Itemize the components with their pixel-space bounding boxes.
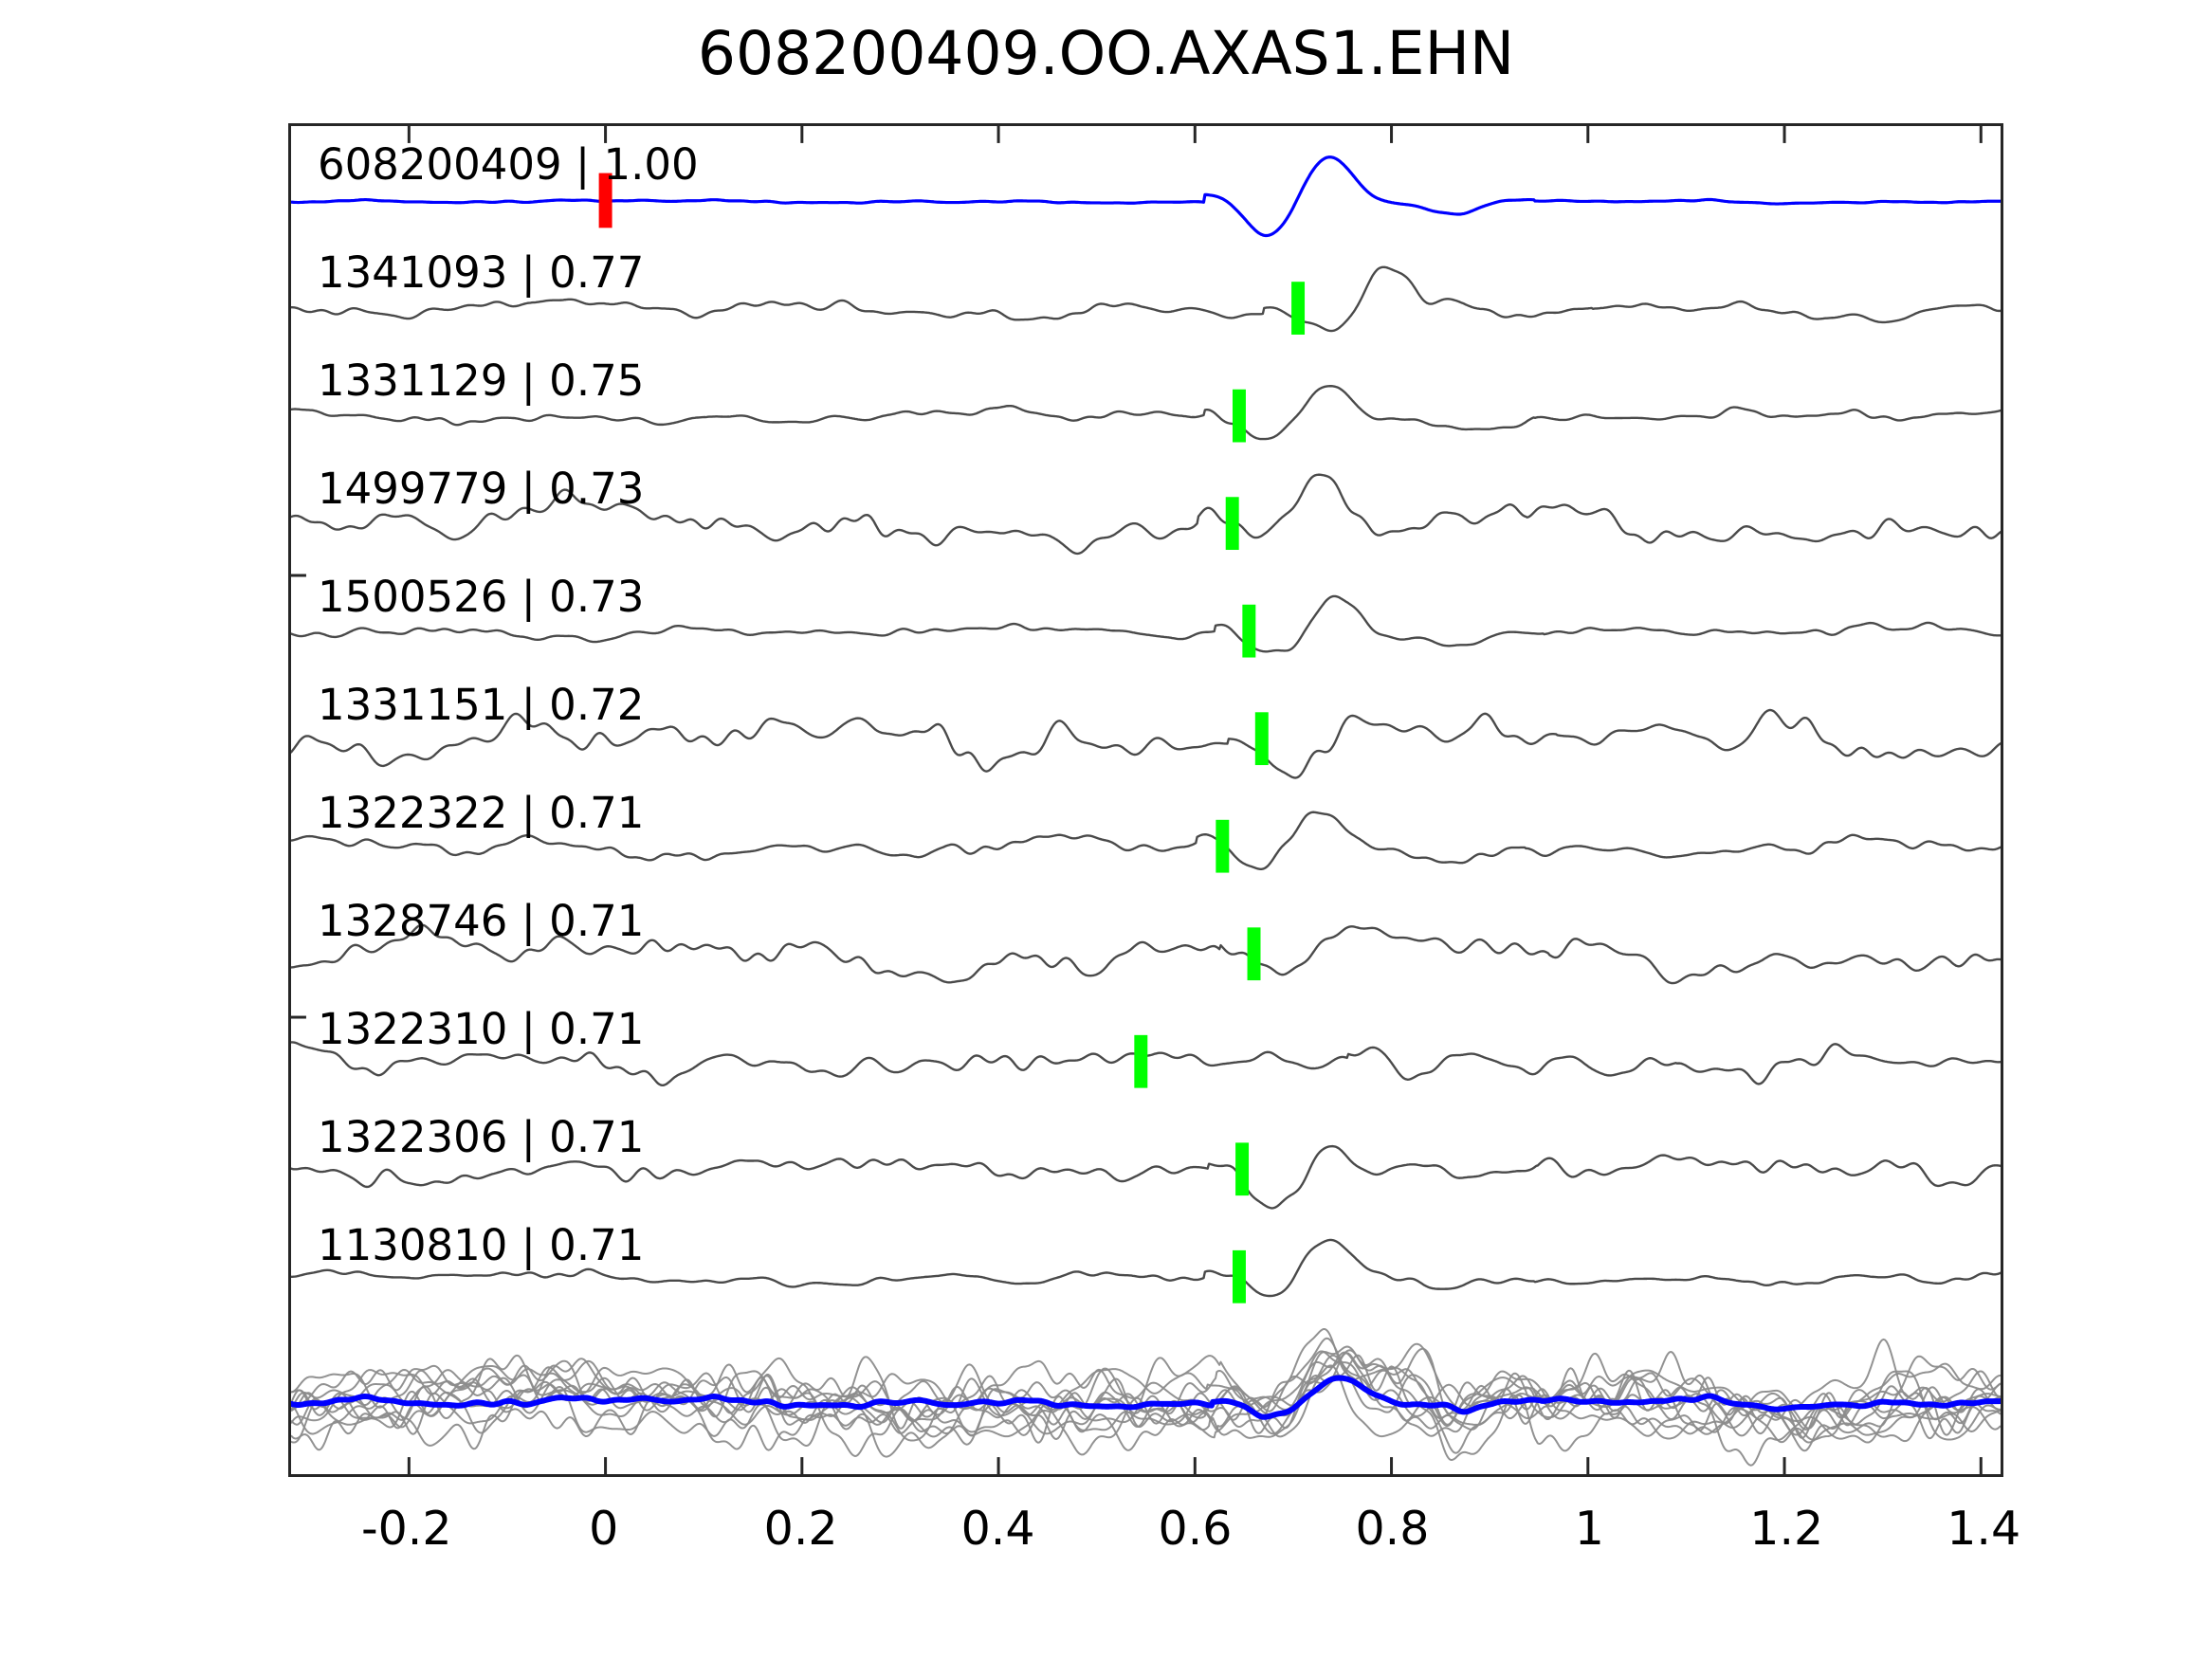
detection-pick-marker bbox=[1248, 927, 1261, 980]
trace-label: 1341093 | 0.77 bbox=[318, 251, 644, 294]
trace-label: 1500526 | 0.73 bbox=[318, 575, 644, 618]
x-tick-label: 0.8 bbox=[1355, 1502, 1429, 1556]
trace-label: 1322310 | 0.71 bbox=[318, 1008, 644, 1050]
x-tick-label: 1.2 bbox=[1749, 1502, 1823, 1556]
x-tick-label: 0 bbox=[589, 1502, 618, 1556]
plot-area: 608200409 | 1.001341093 | 0.771331129 | … bbox=[288, 123, 2003, 1477]
detection-pick-marker bbox=[1233, 390, 1246, 443]
detection-pick-marker bbox=[1291, 282, 1305, 335]
detection-pick-marker bbox=[1226, 497, 1239, 550]
page-title: 608200409.OO.AXAS1.EHN bbox=[0, 19, 2212, 88]
seismic-waveform-figure: 608200409.OO.AXAS1.EHN 608200409 | 1.001… bbox=[0, 0, 2212, 1659]
x-tick-label: -0.2 bbox=[361, 1502, 452, 1556]
detection-pick-marker bbox=[1235, 1142, 1249, 1195]
trace-label: 1328746 | 0.71 bbox=[318, 900, 644, 942]
detection-pick-marker bbox=[1255, 712, 1269, 765]
detection-pick-marker bbox=[1216, 820, 1229, 873]
trace-label: 1331129 | 0.75 bbox=[318, 359, 644, 402]
x-tick-label: 1 bbox=[1575, 1502, 1604, 1556]
x-axis: -0.200.20.40.60.811.21.4 bbox=[288, 1481, 2003, 1566]
trace-label: 1499779 | 0.73 bbox=[318, 467, 644, 510]
trace-label: 1331151 | 0.72 bbox=[318, 684, 644, 726]
x-tick-label: 0.2 bbox=[764, 1502, 838, 1556]
stack-panel bbox=[291, 1329, 2001, 1466]
trace-label: 1130810 | 0.71 bbox=[318, 1224, 644, 1267]
x-tick-label: 1.4 bbox=[1947, 1502, 2020, 1556]
trace-label: 1322306 | 0.71 bbox=[318, 1116, 644, 1158]
detection-pick-marker bbox=[1233, 1250, 1246, 1303]
detection-pick-marker bbox=[1242, 605, 1255, 658]
x-tick-label: 0.4 bbox=[961, 1502, 1035, 1556]
trace-label: 608200409 | 1.00 bbox=[318, 143, 699, 186]
detection-pick-marker bbox=[1134, 1035, 1147, 1088]
trace-label: 1322322 | 0.71 bbox=[318, 792, 644, 834]
x-tick-label: 0.6 bbox=[1159, 1502, 1233, 1556]
